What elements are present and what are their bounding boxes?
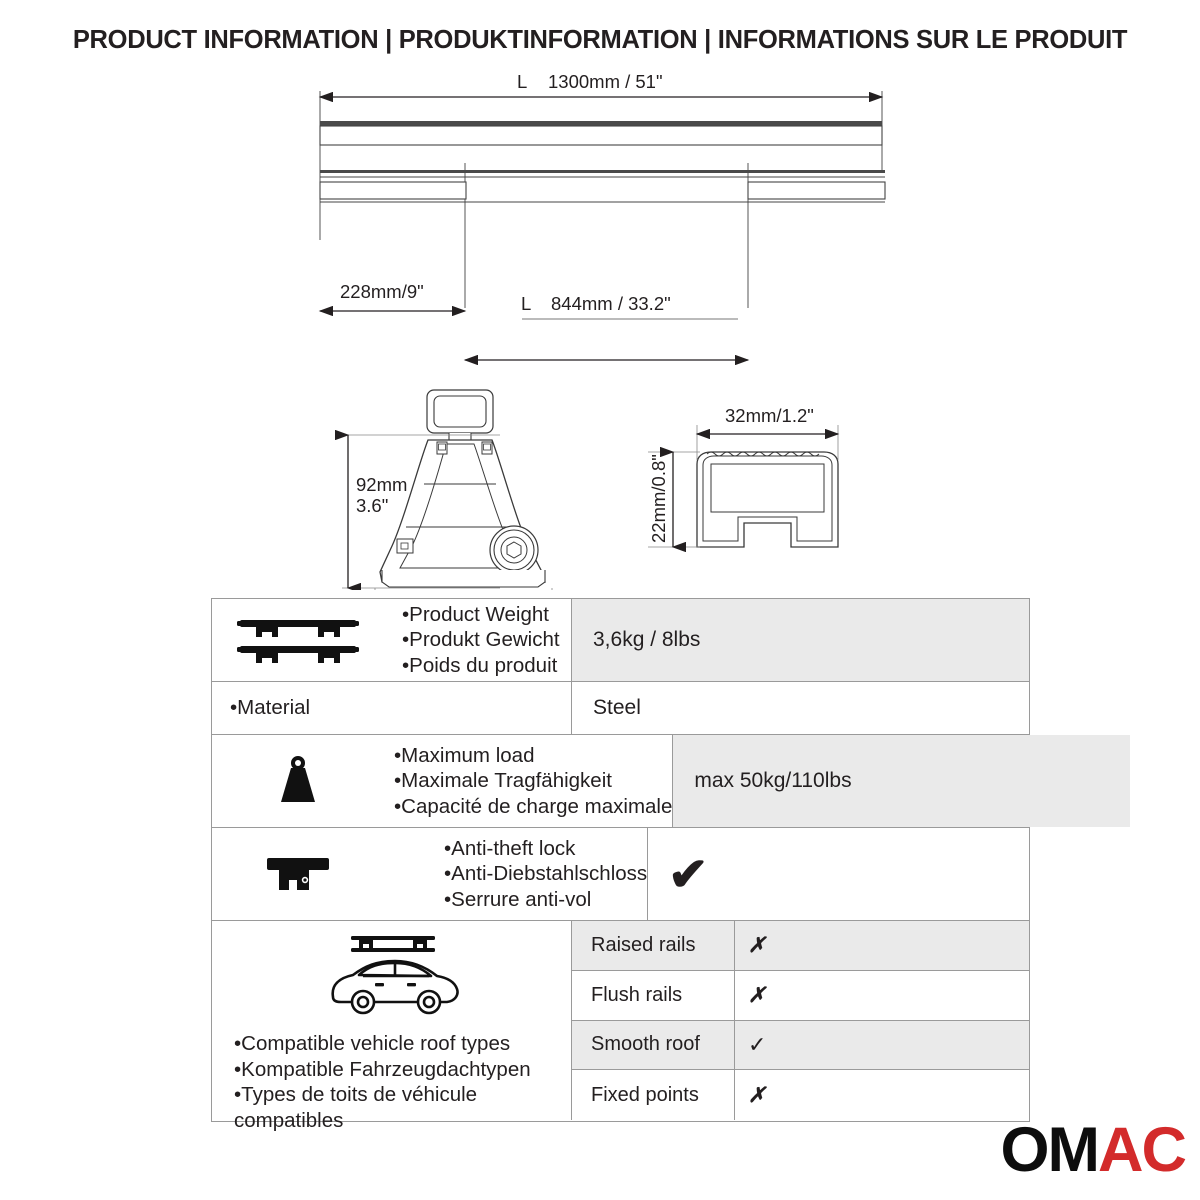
label-line: •Serrure anti-vol: [444, 887, 647, 913]
label-compatible-roof-types: •Compatible vehicle roof types •Kompatib…: [212, 1031, 531, 1133]
label-line: compatibles: [234, 1108, 531, 1134]
roof-type-name: Raised rails: [572, 921, 735, 970]
logo-text-red: AC: [1098, 1115, 1185, 1185]
dim-profile-width-value: 32mm/1.2": [725, 405, 814, 426]
technical-drawing-svg: L 1300mm / 51" 228mm/9" L 844mm / 33.2": [0, 60, 1200, 590]
cross-icon: ✗: [735, 921, 1029, 970]
dim-foot-spacing-value: 844mm / 33.2": [551, 293, 671, 314]
label-line: •Maximum load: [394, 743, 672, 769]
omac-logo: OMAC: [1001, 1119, 1185, 1182]
label-line: •Kompatible Fahrzeugdachtypen: [234, 1057, 531, 1083]
dim-foot-offset-value: 228mm/9": [340, 281, 424, 302]
specification-table: •Product Weight •Produkt Gewicht •Poids …: [211, 598, 1030, 1122]
page-title: PRODUCT INFORMATION | PRODUKTINFORMATION…: [0, 26, 1200, 55]
label-material: •Material: [212, 682, 572, 734]
dim-bar-length-value: 1300mm / 51": [548, 71, 663, 92]
label-line: •Capacité de charge maximale: [394, 794, 672, 820]
value-maximum-load: max 50kg/110lbs: [673, 735, 1130, 827]
dim-profile-height-value: 22mm/0.8": [648, 454, 669, 543]
roof-type-name: Flush rails: [572, 971, 735, 1020]
roof-type-name: Smooth roof: [572, 1021, 735, 1070]
table-row-material: •Material Steel: [212, 682, 1029, 735]
crossbar-top-view: L 1300mm / 51": [320, 71, 882, 173]
checkmark-icon: ✔: [668, 851, 708, 897]
roof-type-row-raised-rails: Raised rails ✗: [572, 921, 1029, 971]
roof-types-sub-table: Raised rails ✗ Flush rails ✗ Smooth roof…: [572, 921, 1029, 1120]
roof-type-row-smooth-roof: Smooth roof ✓: [572, 1021, 1029, 1071]
label-line: •Produkt Gewicht: [402, 627, 571, 653]
label-line: •Material: [230, 695, 571, 721]
roof-type-name: Fixed points: [572, 1070, 735, 1120]
car-roof-icon: [212, 931, 571, 1023]
label-line: •Poids du produit: [402, 653, 571, 679]
table-row-compatible-roof-types: •Compatible vehicle roof types •Kompatib…: [212, 921, 1029, 1120]
weight-icon: [212, 735, 384, 827]
crossbar-with-feet-view: 228mm/9" L 844mm / 33.2": [320, 163, 885, 360]
dim-tower-height-line2: 3.6": [356, 495, 388, 516]
lock-icon: [212, 828, 384, 920]
value-anti-theft-lock: ✔: [648, 828, 1105, 920]
check-icon: ✓: [735, 1021, 1029, 1070]
label-product-weight: •Product Weight •Produkt Gewicht •Poids …: [384, 599, 572, 681]
roof-type-row-fixed-points: Fixed points ✗: [572, 1070, 1029, 1120]
cross-icon: ✗: [735, 971, 1029, 1020]
dim-bar-length-prefix: L: [517, 71, 527, 92]
dim-foot-spacing-prefix: L: [521, 293, 531, 314]
label-line: •Product Weight: [402, 602, 571, 628]
table-row-maximum-load: •Maximum load •Maximale Tragfähigkeit •C…: [212, 735, 1029, 828]
label-anti-theft-lock: •Anti-theft lock •Anti-Diebstahlschloss …: [384, 828, 648, 920]
table-row-anti-theft-lock: •Anti-theft lock •Anti-Diebstahlschloss …: [212, 828, 1029, 921]
value-product-weight: 3,6kg / 8lbs: [572, 599, 1029, 681]
cross-icon: ✗: [735, 1070, 1029, 1120]
label-line: •Maximale Tragfähigkeit: [394, 768, 672, 794]
label-line: •Anti-theft lock: [444, 836, 647, 862]
logo-text-dark: OM: [1001, 1115, 1098, 1185]
label-line: •Compatible vehicle roof types: [234, 1031, 531, 1057]
roof-type-row-flush-rails: Flush rails ✗: [572, 971, 1029, 1021]
technical-drawing-area: L 1300mm / 51" 228mm/9" L 844mm / 33.2": [0, 60, 1200, 590]
value-material: Steel: [572, 682, 1029, 734]
table-row-product-weight: •Product Weight •Produkt Gewicht •Poids …: [212, 599, 1029, 682]
bar-cross-section: [697, 452, 838, 547]
label-line: •Types de toits de véhicule: [234, 1082, 531, 1108]
label-maximum-load: •Maximum load •Maximale Tragfähigkeit •C…: [384, 735, 673, 827]
roof-types-left-cell: •Compatible vehicle roof types •Kompatib…: [212, 921, 572, 1120]
dim-tower-height-line1: 92mm: [356, 474, 407, 495]
roof-bars-icon: [212, 599, 384, 681]
label-line: •Anti-Diebstahlschloss: [444, 861, 647, 887]
